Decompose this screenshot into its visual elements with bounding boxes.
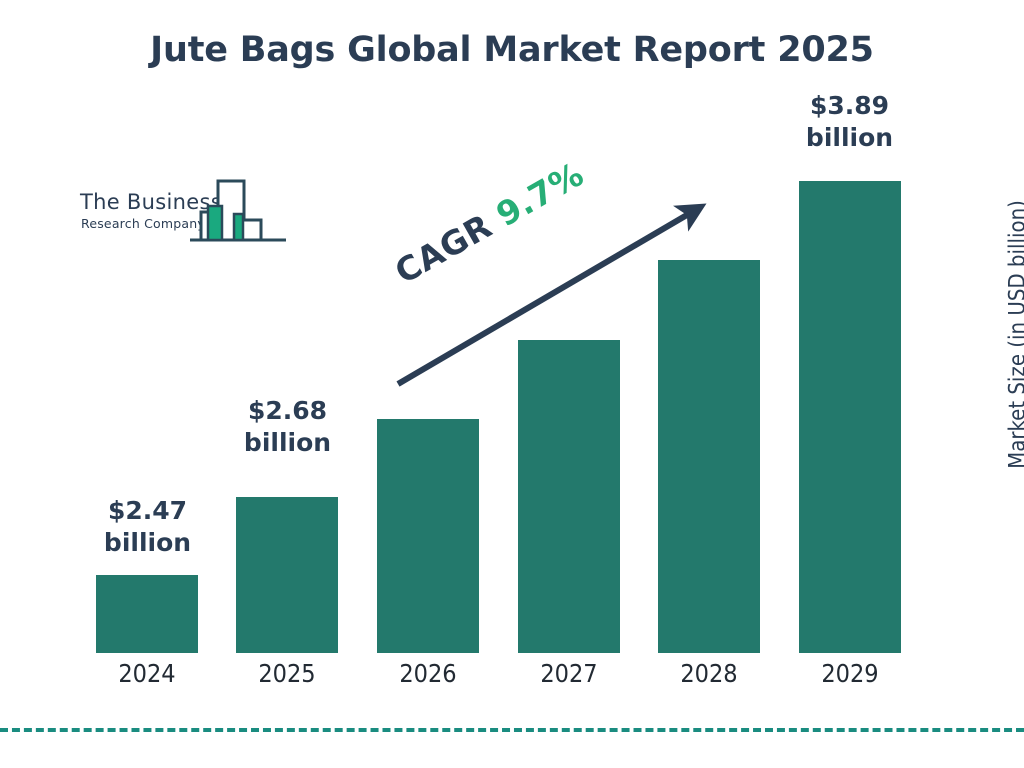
bottom-divider (0, 728, 1024, 732)
x-tick-2024: 2024 (96, 659, 198, 688)
bar-2024[interactable] (96, 575, 198, 653)
value-label-2025-amount: $2.68 (225, 395, 350, 427)
x-tick-2027: 2027 (518, 659, 620, 688)
chart-page: Jute Bags Global Market Report 2025 The … (0, 0, 1024, 768)
value-label-2029-amount: $3.89 (787, 90, 912, 122)
value-label-2024-amount: $2.47 (85, 495, 210, 527)
value-label-2025-unit: billion (225, 427, 350, 459)
value-label-2029-unit: billion (787, 122, 912, 154)
bar-2029[interactable] (799, 181, 901, 653)
cagr-label-value: 9.7% (490, 154, 591, 234)
value-label-2029: $3.89 billion (787, 90, 912, 154)
x-tick-2029: 2029 (799, 659, 901, 688)
x-tick-2028: 2028 (658, 659, 760, 688)
value-label-2025: $2.68 billion (225, 395, 350, 459)
x-tick-2025: 2025 (236, 659, 338, 688)
value-label-2024: $2.47 billion (85, 495, 210, 559)
plot-area: $2.47 billion $2.68 billion $3.89 billio… (0, 0, 1024, 768)
cagr-annotation: CAGR 9.7% (388, 154, 590, 291)
bar-2027[interactable] (518, 340, 620, 653)
bar-2025[interactable] (236, 497, 338, 653)
cagr-label-word: CAGR (388, 206, 498, 291)
bar-2028[interactable] (658, 260, 760, 653)
bar-2026[interactable] (377, 419, 479, 653)
x-tick-2026: 2026 (377, 659, 479, 688)
y-axis-title: Market Size (in USD billion) (1006, 165, 1024, 505)
value-label-2024-unit: billion (85, 527, 210, 559)
